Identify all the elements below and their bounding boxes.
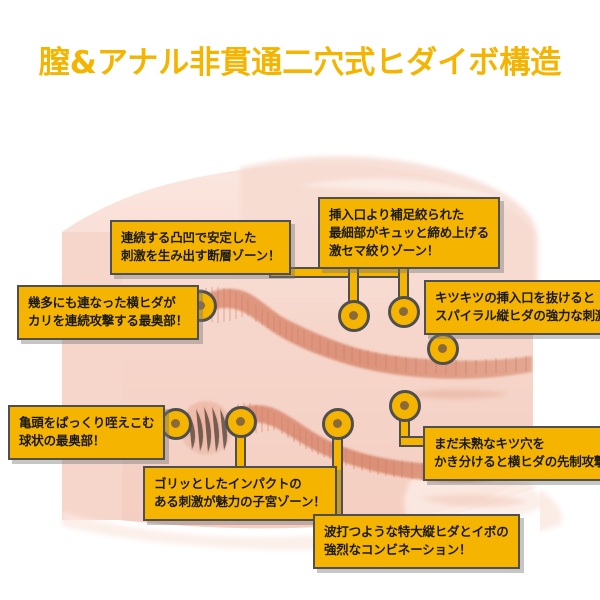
callout-shikyuu-zone[interactable]: ゴリッとしたインパクトの ある刺激が魅力の子宮ゾーン！ — [143, 466, 337, 521]
callout-gekisema-zone-line-1: 挿入口より補足絞られた — [329, 206, 489, 224]
callout-kyuujou-line-1: 亀頭をぱっくり咥えこむ — [19, 414, 154, 432]
callout-dansou-zone[interactable]: 連続する凸凹で安定した 刺激を生み出す断層ゾーン！ — [110, 220, 291, 275]
callout-sensei-kougeki-line-2: かき分けると横ヒダの先制攻撃！ — [434, 453, 600, 471]
callout-shikyuu-zone-line-1: ゴリッとしたインパクトの — [154, 475, 326, 493]
callout-dansou-zone-line-1: 連続する凸凹で安定した — [121, 229, 280, 247]
callout-sensei-kougeki-line-1: まだ未熟なキツ穴を — [434, 435, 600, 453]
callout-gekisema-zone-line-2: 最細部がキュッと締め上げる — [329, 224, 489, 242]
nub-gekisema-zone — [338, 300, 370, 332]
callout-gekisema-zone-line-3: 激セマ絞りゾーン！ — [329, 242, 489, 260]
nub-shikyuu-zone — [225, 406, 257, 438]
callout-dansou-zone-line-2: 刺激を生み出す断層ゾーン！ — [121, 247, 280, 265]
callout-saioubu[interactable]: 幾多にも連なった横ヒダが カリを連続攻撃する最奥部！ — [17, 285, 199, 340]
callout-shikyuu-zone-line-2: ある刺激が魅力の子宮ゾーン！ — [154, 493, 326, 511]
nub-dansou-zone — [388, 296, 420, 328]
callout-combination-line-2: 強烈なコンビネーション！ — [324, 541, 509, 559]
callout-spiral-line-2: スパイラル縦ヒダの強力な刺激！ — [435, 307, 600, 325]
nub-combination — [322, 408, 354, 440]
callout-sensei-kougeki[interactable]: まだ未熟なキツ穴を かき分けると横ヒダの先制攻撃！ — [423, 426, 600, 481]
callout-saioubu-line-2: カリを連続攻撃する最奥部！ — [28, 312, 188, 330]
callout-kyuujou-line-2: 球状の最奥部！ — [19, 432, 154, 450]
callout-spiral-line-1: キツキツの挿入口を抜けると — [435, 289, 600, 307]
callout-saioubu-line-1: 幾多にも連なった横ヒダが — [28, 294, 188, 312]
callout-gekisema-zone[interactable]: 挿入口より補足絞られた 最細部がキュッと締め上げる 激セマ絞りゾーン！ — [318, 197, 500, 269]
infographic-canvas: 膣&アナル非貫通二穴式ヒダイボ構造 連続する凸凹で安定した 刺激を生み出す断層ゾ… — [0, 0, 600, 600]
page-title: 膣&アナル非貫通二穴式ヒダイボ構造 — [0, 46, 600, 80]
callout-kyuujou[interactable]: 亀頭をぱっくり咥えこむ 球状の最奥部！ — [8, 405, 165, 460]
nub-sensei-kougeki — [389, 390, 421, 422]
callout-spiral[interactable]: キツキツの挿入口を抜けると スパイラル縦ヒダの強力な刺激！ — [424, 280, 600, 335]
callout-combination-line-1: 波打つような特大縦ヒダとイボの — [324, 523, 509, 541]
callout-combination[interactable]: 波打つような特大縦ヒダとイボの 強烈なコンビネーション！ — [313, 514, 520, 569]
nub-spiral — [427, 333, 459, 365]
